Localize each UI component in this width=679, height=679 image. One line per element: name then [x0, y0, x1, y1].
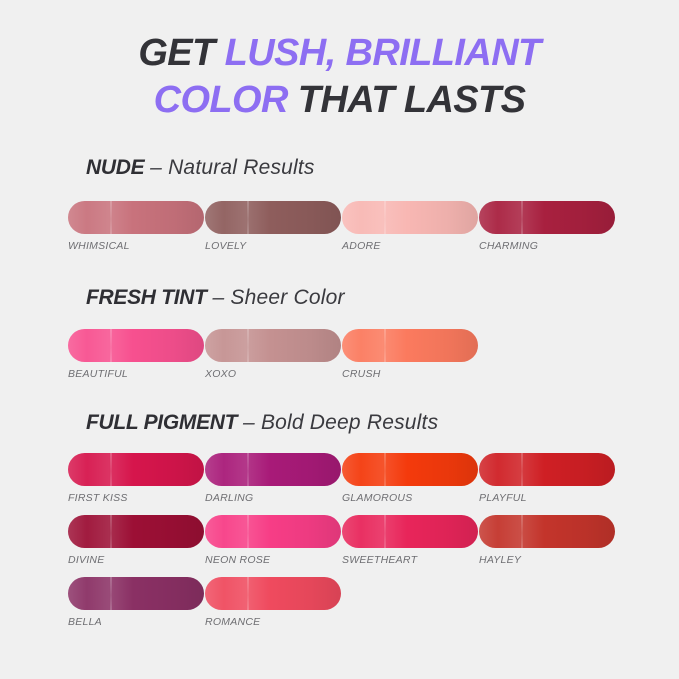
swatch-cell-glamorous[interactable]: GLAMOROUS	[342, 453, 478, 504]
section-subtitle-nude: – Natural Results	[150, 156, 314, 179]
page-title: GET LUSH, BRILLIANT COLOR THAT LASTS	[0, 30, 679, 124]
swatch-cell-lovely[interactable]: LOVELY	[205, 201, 341, 252]
section-header-full-pigment: FULL PIGMENT – Bold Deep Results	[86, 411, 438, 435]
swatch-color-neon-rose[interactable]	[205, 515, 341, 548]
swatch-cell-hayley[interactable]: HAYLEY	[479, 515, 615, 566]
section-header-nude: NUDE – Natural Results	[86, 156, 315, 180]
swatch-color-glamorous[interactable]	[342, 453, 478, 486]
swatch-cell-crush[interactable]: CRUSH	[342, 329, 478, 380]
swatch-label-glamorous: GLAMOROUS	[342, 492, 478, 504]
section-name-fresh-tint: FRESH TINT	[86, 286, 207, 309]
swatch-label-xoxo: XOXO	[205, 368, 341, 380]
poster-canvas: GET LUSH, BRILLIANT COLOR THAT LASTS NUD…	[0, 0, 679, 679]
swatch-color-romance[interactable]	[205, 577, 341, 610]
headline-line-2: COLOR THAT LASTS	[0, 77, 679, 124]
swatch-cell-charming[interactable]: CHARMING	[479, 201, 615, 252]
swatch-color-hayley[interactable]	[479, 515, 615, 548]
swatch-label-whimsical: WHIMSICAL	[68, 240, 204, 252]
swatch-color-bella[interactable]	[68, 577, 204, 610]
swatch-label-romance: ROMANCE	[205, 616, 341, 628]
swatch-color-whimsical[interactable]	[68, 201, 204, 234]
headline-get-text: GET	[138, 32, 224, 74]
section-name-nude: NUDE	[86, 156, 144, 179]
section-name-full-pigment: FULL PIGMENT	[86, 411, 237, 434]
swatch-cell-bella[interactable]: BELLA	[68, 577, 204, 628]
swatch-cell-neon-rose[interactable]: NEON ROSE	[205, 515, 341, 566]
swatch-color-darling[interactable]	[205, 453, 341, 486]
swatch-cell-beautiful[interactable]: BEAUTIFUL	[68, 329, 204, 380]
swatch-label-playful: PLAYFUL	[479, 492, 615, 504]
swatch-color-first-kiss[interactable]	[68, 453, 204, 486]
headline-accent-lush: LUSH, BRILLIANT	[225, 32, 541, 74]
swatch-color-crush[interactable]	[342, 329, 478, 362]
swatch-label-charming: CHARMING	[479, 240, 615, 252]
swatch-color-playful[interactable]	[479, 453, 615, 486]
swatch-cell-darling[interactable]: DARLING	[205, 453, 341, 504]
swatch-color-lovely[interactable]	[205, 201, 341, 234]
headline-accent-color: COLOR	[154, 79, 288, 121]
headline-that-lasts-text: THAT LASTS	[288, 79, 526, 121]
swatch-color-sweetheart[interactable]	[342, 515, 478, 548]
swatch-cell-sweetheart[interactable]: SWEETHEART	[342, 515, 478, 566]
swatch-label-adore: ADORE	[342, 240, 478, 252]
swatch-color-charming[interactable]	[479, 201, 615, 234]
swatch-label-neon-rose: NEON ROSE	[205, 554, 341, 566]
swatch-label-hayley: HAYLEY	[479, 554, 615, 566]
swatch-cell-divine[interactable]: DIVINE	[68, 515, 204, 566]
swatch-cell-playful[interactable]: PLAYFUL	[479, 453, 615, 504]
swatch-cell-first-kiss[interactable]: FIRST KISS	[68, 453, 204, 504]
section-subtitle-full-pigment: – Bold Deep Results	[243, 411, 438, 434]
headline-line-1: GET LUSH, BRILLIANT	[0, 30, 679, 77]
swatch-color-adore[interactable]	[342, 201, 478, 234]
swatch-label-darling: DARLING	[205, 492, 341, 504]
swatch-label-lovely: LOVELY	[205, 240, 341, 252]
swatch-cell-adore[interactable]: ADORE	[342, 201, 478, 252]
swatch-cell-romance[interactable]: ROMANCE	[205, 577, 341, 628]
swatch-color-xoxo[interactable]	[205, 329, 341, 362]
section-subtitle-fresh-tint: – Sheer Color	[213, 286, 345, 309]
swatch-label-first-kiss: FIRST KISS	[68, 492, 204, 504]
section-header-fresh-tint: FRESH TINT – Sheer Color	[86, 286, 345, 310]
swatch-label-divine: DIVINE	[68, 554, 204, 566]
swatch-color-beautiful[interactable]	[68, 329, 204, 362]
swatch-label-bella: BELLA	[68, 616, 204, 628]
swatch-label-sweetheart: SWEETHEART	[342, 554, 478, 566]
swatch-cell-whimsical[interactable]: WHIMSICAL	[68, 201, 204, 252]
swatch-label-beautiful: BEAUTIFUL	[68, 368, 204, 380]
swatch-cell-xoxo[interactable]: XOXO	[205, 329, 341, 380]
swatch-label-crush: CRUSH	[342, 368, 478, 380]
swatch-color-divine[interactable]	[68, 515, 204, 548]
